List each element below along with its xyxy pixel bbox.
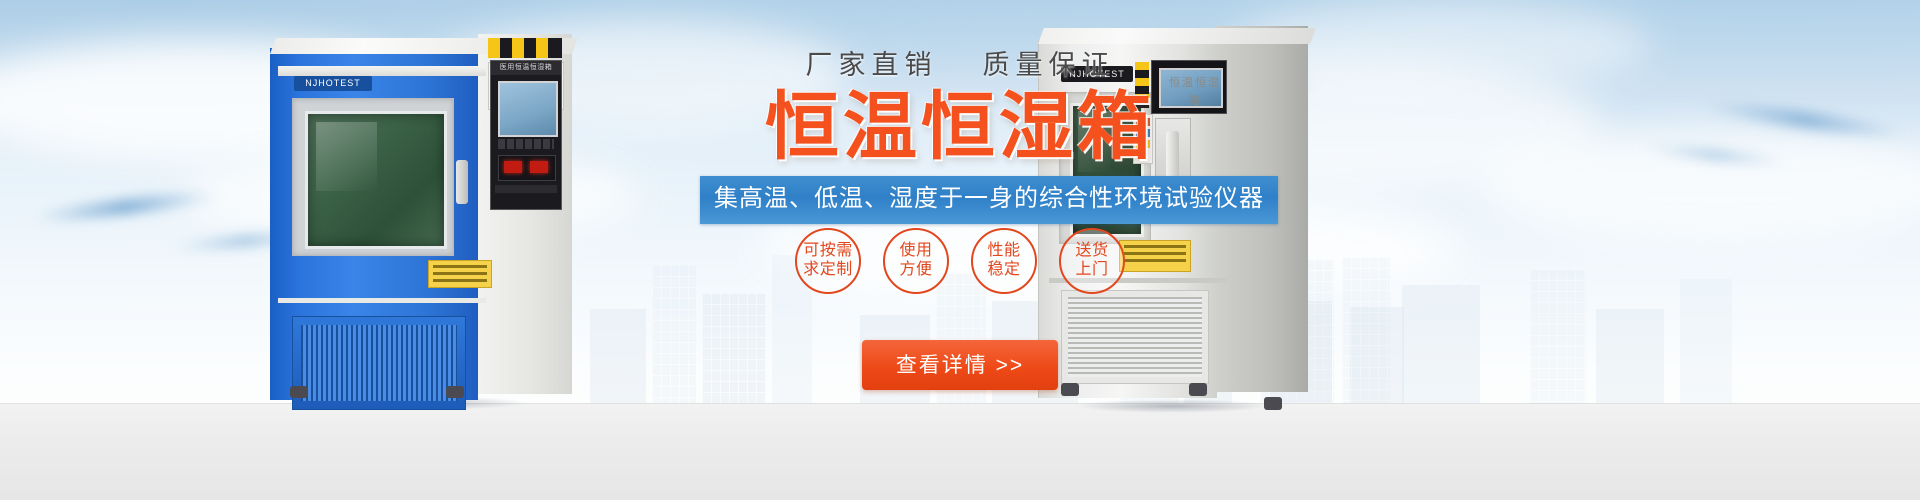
led-readout-panel bbox=[498, 155, 556, 181]
caster-wheel bbox=[1264, 397, 1282, 410]
feature-badge-list: 可按需 求定制 使用 方便 性能 稳定 送货 上门 bbox=[700, 228, 1220, 294]
led-indicator bbox=[504, 161, 522, 173]
caster-wheel bbox=[446, 386, 464, 398]
hazard-stripe-sticker bbox=[488, 38, 562, 58]
skyline-watermark-right bbox=[1230, 235, 1830, 405]
controller-screen bbox=[498, 81, 558, 137]
banner-headline: 恒温恒湿箱 bbox=[700, 89, 1220, 164]
banner-subtitle-bar: 集高温、低温、湿度于一身的综合性环境试验仪器 bbox=[700, 176, 1278, 224]
feature-badge-line2: 求定制 bbox=[803, 261, 853, 280]
feature-badge[interactable]: 送货 上门 bbox=[1059, 228, 1125, 294]
eyebrow-right-text: 质量保证 bbox=[983, 50, 1115, 80]
yellow-warning-label bbox=[428, 260, 492, 288]
bottom-grey-strip bbox=[0, 403, 1920, 500]
feature-badge-line1: 可按需 bbox=[803, 242, 853, 261]
door-handle bbox=[456, 160, 468, 204]
control-panel-title: 医用恒温恒湿箱 bbox=[491, 61, 561, 75]
feature-badge-line2: 稳定 bbox=[987, 261, 1020, 280]
control-panel: 医用恒温恒湿箱 bbox=[490, 60, 562, 210]
feature-badge-line1: 使用 bbox=[899, 242, 932, 261]
chamber-front-body: NJHOTEST bbox=[270, 48, 478, 400]
view-details-button[interactable]: 查看详情 >> bbox=[862, 340, 1058, 390]
chamber-viewing-window bbox=[305, 111, 447, 249]
led-indicator bbox=[530, 161, 548, 173]
control-panel-footer bbox=[495, 185, 557, 193]
feature-badge-line1: 性能 bbox=[987, 242, 1020, 261]
ventilation-grille bbox=[301, 325, 457, 401]
cta-container: 查看详情 >> bbox=[700, 340, 1220, 390]
feature-badge-line2: 方便 bbox=[899, 261, 932, 280]
body-divider bbox=[278, 298, 486, 303]
banner-text-block: 厂家直销 质量保证 恒温恒湿箱 集高温、低温、湿度于一身的综合性环境试验仪器 bbox=[700, 52, 1220, 224]
controller-keypad bbox=[498, 139, 554, 149]
feature-badge[interactable]: 性能 稳定 bbox=[971, 228, 1037, 294]
feature-badge-line1: 送货 bbox=[1075, 242, 1108, 261]
chamber-top-face bbox=[1038, 28, 1316, 44]
glass-glare bbox=[316, 122, 377, 191]
chamber-door-frame bbox=[292, 98, 454, 256]
feature-badge-line2: 上门 bbox=[1075, 261, 1108, 280]
banner-eyebrow: 厂家直销 质量保证 bbox=[700, 52, 1220, 79]
product-image-left-chamber: NJHOTEST 医用恒温恒湿箱 bbox=[262, 30, 580, 405]
caster-wheel bbox=[290, 386, 308, 398]
promo-banner: NJHOTEST 医用恒温恒湿箱 bbox=[0, 0, 1920, 500]
chamber-top-cap bbox=[278, 66, 486, 76]
feature-badge[interactable]: 可按需 求定制 bbox=[795, 228, 861, 294]
lower-compressor-panel bbox=[292, 316, 466, 410]
brand-plate: NJHOTEST bbox=[294, 76, 372, 91]
feature-badge[interactable]: 使用 方便 bbox=[883, 228, 949, 294]
eyebrow-left-text: 厂家直销 bbox=[805, 50, 937, 80]
